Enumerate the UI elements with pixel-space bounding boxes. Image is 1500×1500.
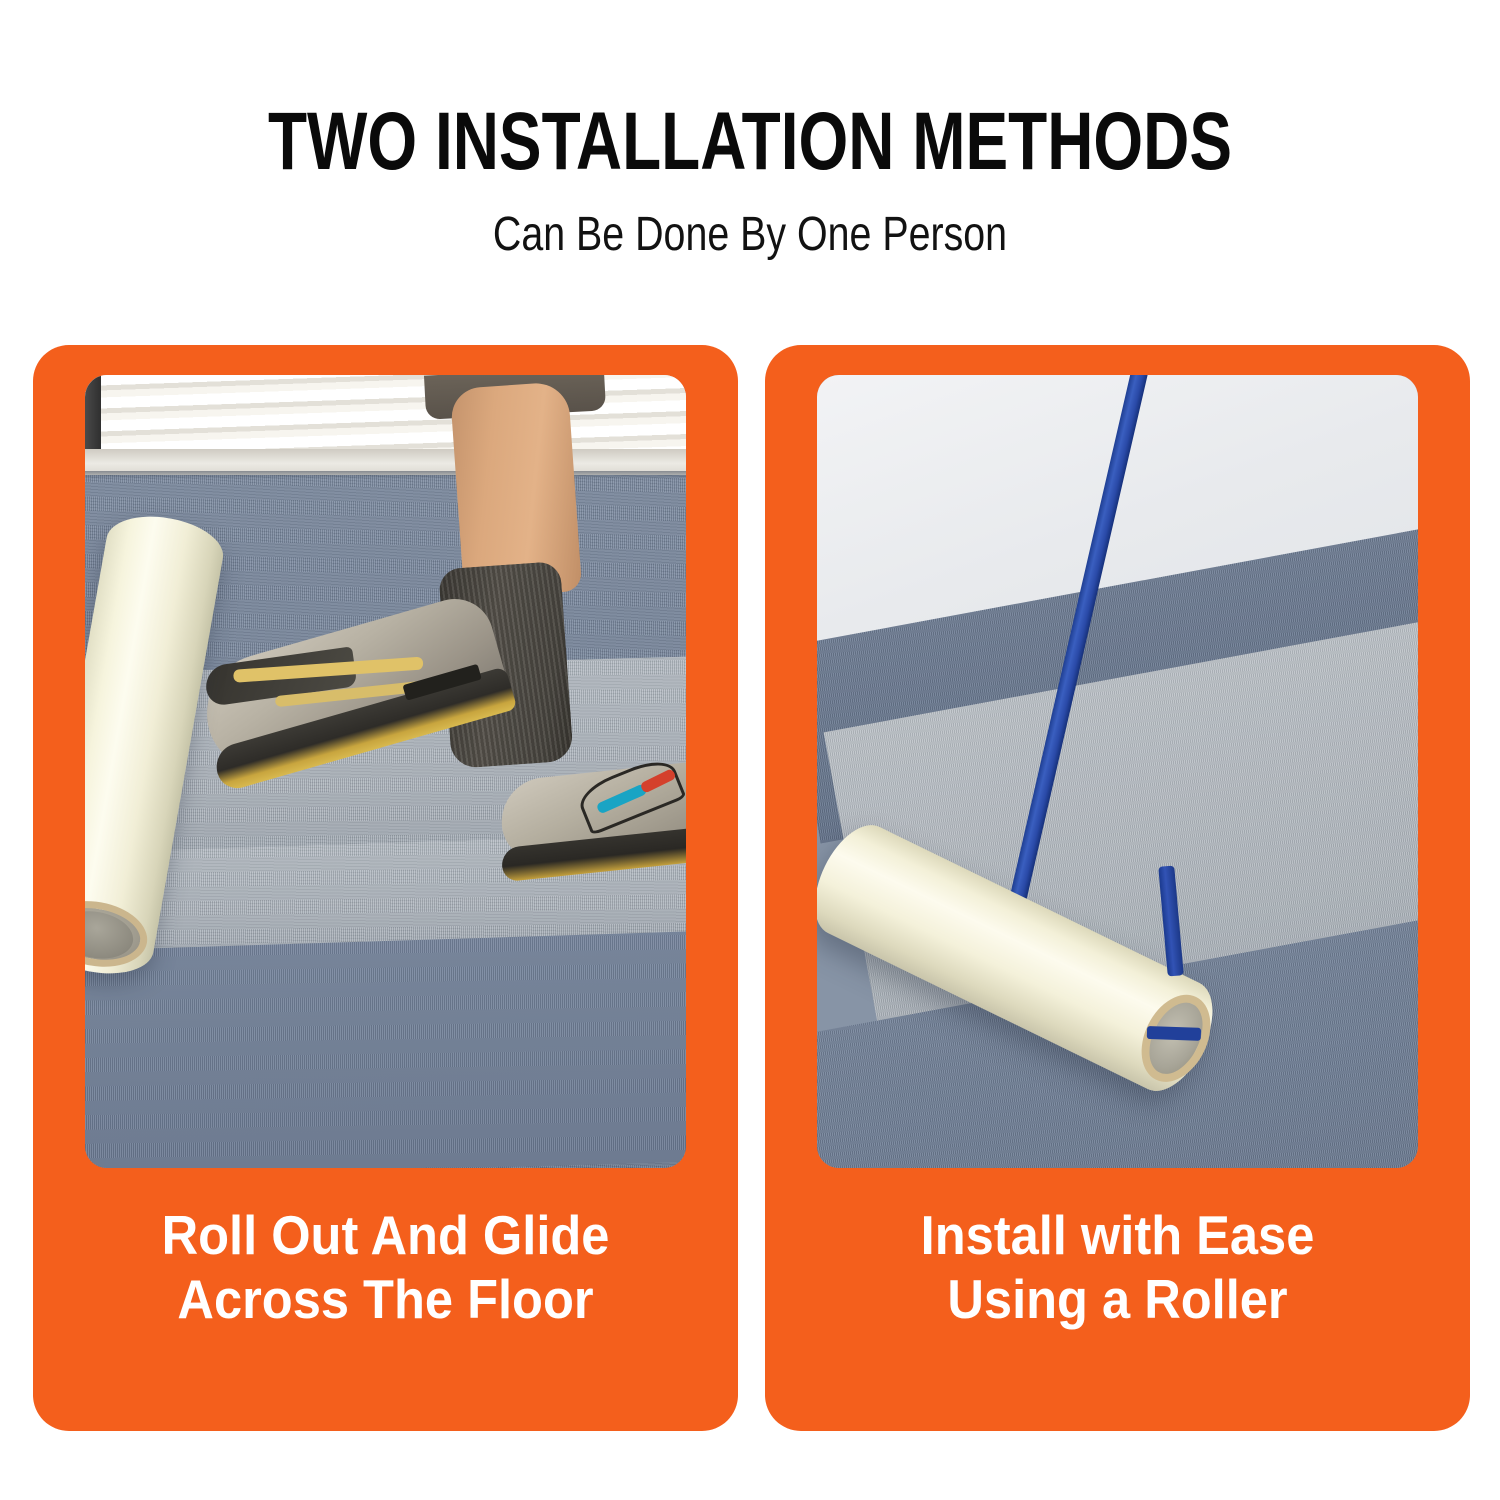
caption-line-1: Roll Out And Glide [61,1203,710,1267]
page-title: TWO INSTALLATION METHODS [165,0,1335,186]
method-panels: Roll Out And Glide Across The Floor Inst… [33,345,1470,1431]
caption-line-1: Install with Ease [793,1203,1442,1267]
header: TWO INSTALLATION METHODS Can Be Done By … [0,0,1500,262]
method-panel-install-with-roller[interactable]: Install with Ease Using a Roller [765,345,1470,1431]
panel-caption-install-with-roller: Install with Ease Using a Roller [765,1203,1470,1331]
method-panel-roll-out-and-glide[interactable]: Roll Out And Glide Across The Floor [33,345,738,1431]
panel-caption-roll-out-and-glide: Roll Out And Glide Across The Floor [33,1203,738,1331]
caption-line-2: Using a Roller [793,1267,1442,1331]
wall-floor-shadow [85,471,686,479]
shoe-secondary [496,750,686,891]
photo-install-with-roller [817,375,1418,1168]
roller-axle [1147,1026,1201,1041]
carpet-foreground [85,932,686,1168]
caption-line-2: Across The Floor [61,1267,710,1331]
page-subtitle: Can Be Done By One Person [135,186,1365,262]
photo-roll-out-and-glide [85,375,686,1168]
